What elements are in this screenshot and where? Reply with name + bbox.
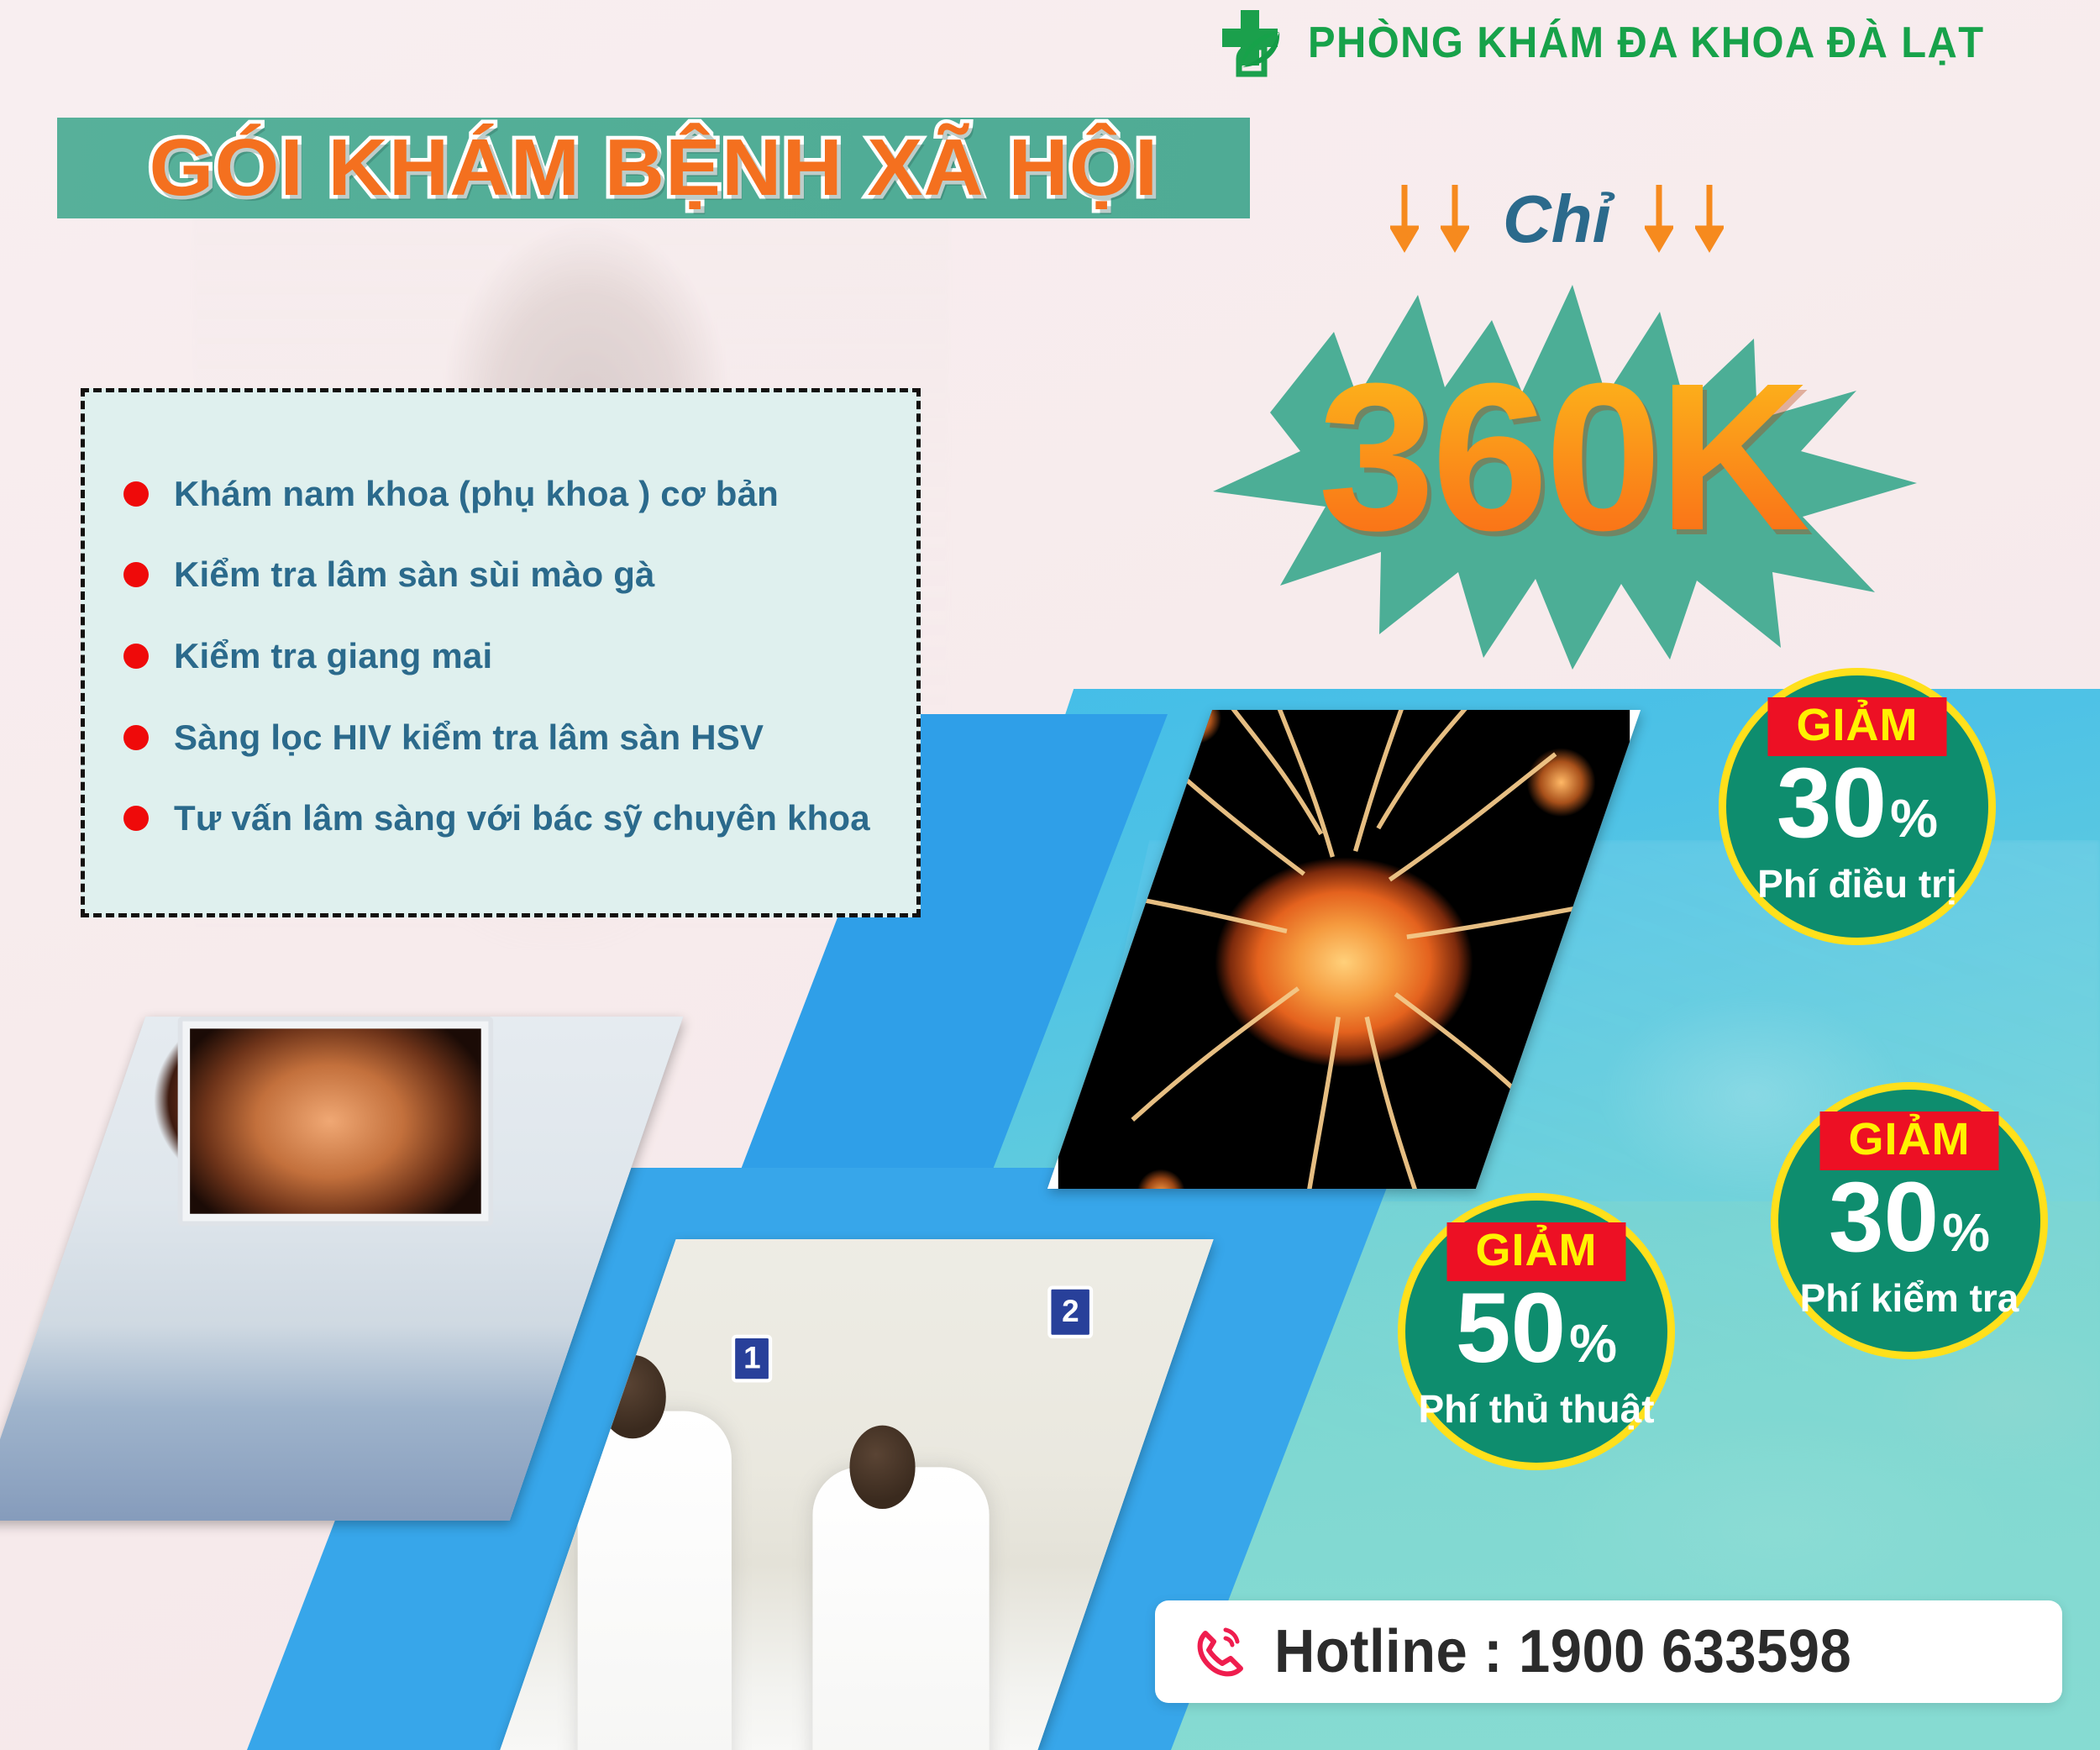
list-item: Kiểm tra giang mai <box>123 636 883 676</box>
price-starburst: 360K <box>1193 239 1932 685</box>
percent-sign: % <box>1569 1316 1617 1370</box>
discount-caption: Phí điều trị <box>1757 861 1957 907</box>
discount-percent: 30 % <box>1829 1168 1990 1267</box>
list-item: Sàng lọc HIV kiểm tra lâm sàn HSV <box>123 717 883 758</box>
percent-sign: % <box>1890 791 1938 845</box>
service-label: Sàng lọc HIV kiểm tra lâm sàn HSV <box>174 717 764 758</box>
discount-percent: 50 % <box>1456 1279 1617 1378</box>
hotline-number: Hotline : 1900 633598 <box>1274 1617 1851 1686</box>
percent-sign: % <box>1942 1206 1990 1259</box>
bed-number-tag: 2 <box>1047 1285 1093 1337</box>
discount-badge-treatment: GIẢM 30 % Phí điều trị <box>1719 668 1996 945</box>
discount-caption: Phí kiểm tra <box>1800 1275 2019 1321</box>
brand-name: PHÒNG KHÁM ĐA KHOA ĐÀ LẠT <box>1308 18 1985 68</box>
discount-percent: 30 % <box>1777 754 1938 853</box>
brand-logo: PHÒNG KHÁM ĐA KHOA ĐÀ LẠT <box>1214 7 2028 79</box>
service-label: Tư vấn lâm sàng với bác sỹ chuyên khoa <box>174 798 870 838</box>
doctor-head <box>849 1425 916 1509</box>
bullet-dot-icon <box>123 806 149 831</box>
discount-ribbon-label: GIẢM <box>1820 1111 1999 1170</box>
discount-ribbon-label: GIẢM <box>1447 1222 1626 1281</box>
discount-badge-exam: GIẢM 30 % Phí kiểm tra <box>1771 1082 2048 1359</box>
price-amount: 360K <box>1193 239 1932 685</box>
list-item: Khám nam khoa (phụ khoa ) cơ bản <box>123 474 883 514</box>
service-label: Khám nam khoa (phụ khoa ) cơ bản <box>174 474 779 514</box>
discount-badge-procedure: GIẢM 50 % Phí thủ thuật <box>1398 1193 1675 1470</box>
service-label: Kiểm tra lâm sàn sùi mào gà <box>174 554 655 595</box>
discount-number: 50 <box>1456 1279 1566 1378</box>
discount-number: 30 <box>1777 754 1887 853</box>
list-item: Tư vấn lâm sàng với bác sỹ chuyên khoa <box>123 798 883 838</box>
discount-caption: Phí thủ thuật <box>1418 1386 1654 1432</box>
discount-ribbon-label: GIẢM <box>1768 697 1947 756</box>
bullet-dot-icon <box>123 481 149 507</box>
hotline-card[interactable]: Hotline : 1900 633598 <box>1155 1600 2062 1703</box>
banner-canvas: PHÒNG KHÁM ĐA KHOA ĐÀ LẠT GÓI KHÁM BỆNH … <box>0 0 2100 1750</box>
phone-call-icon <box>1189 1620 1252 1684</box>
page-title: GÓI KHÁM BỆNH XÃ HỘI <box>149 122 1158 214</box>
list-item: Kiểm tra lâm sàn sùi mào gà <box>123 554 883 595</box>
discount-number: 30 <box>1829 1168 1939 1267</box>
doctor-figure <box>578 1411 732 1750</box>
bullet-dot-icon <box>123 644 149 669</box>
title-band: GÓI KHÁM BỆNH XÃ HỘI <box>57 118 1250 218</box>
service-label: Kiểm tra giang mai <box>174 636 492 676</box>
service-list: Khám nam khoa (phụ khoa ) cơ bản Kiểm tr… <box>81 388 921 917</box>
doctor-figure <box>813 1467 990 1750</box>
bed-number-tag: 1 <box>732 1334 772 1382</box>
bullet-dot-icon <box>123 725 149 750</box>
bullet-dot-icon <box>123 562 149 587</box>
endoscope-monitor <box>177 1017 492 1227</box>
medical-cross-leaf-icon <box>1214 7 1286 79</box>
